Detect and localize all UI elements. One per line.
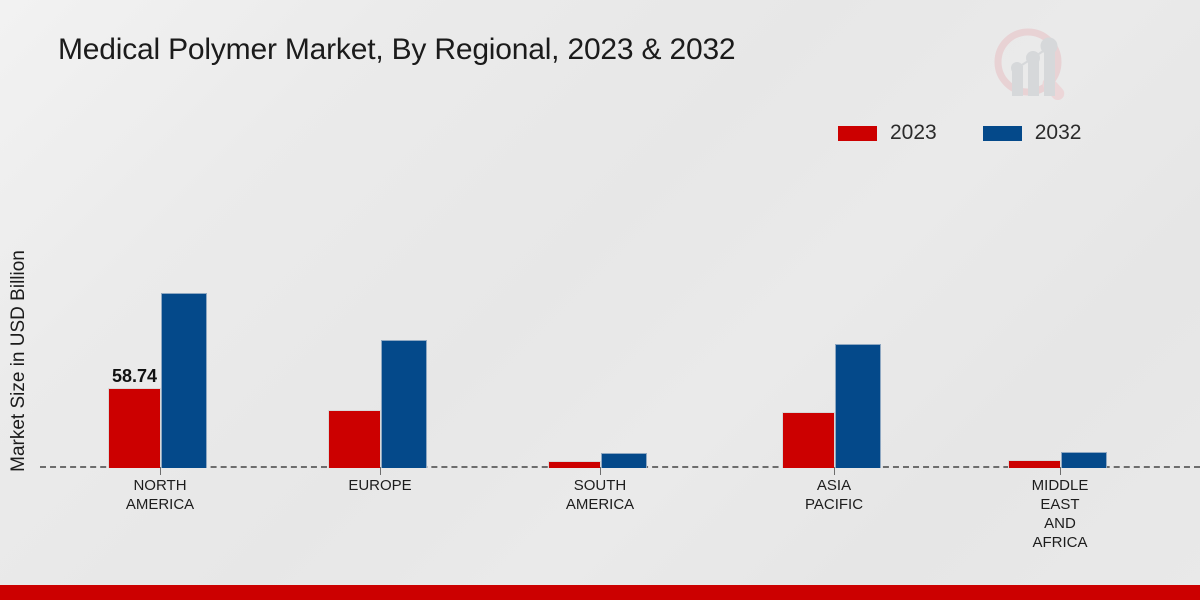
y-axis-title-text: Market Size in USD Billion xyxy=(8,250,30,472)
legend-swatch-2023 xyxy=(838,126,877,141)
bar-group-south-america: SOUTH AMERICA xyxy=(548,150,648,468)
category-label-europe: EUROPE xyxy=(348,476,411,495)
category-label-south-america: SOUTH AMERICA xyxy=(566,476,634,514)
axis-tick xyxy=(600,467,601,475)
chart-title: Medical Polymer Market, By Regional, 202… xyxy=(58,33,735,67)
plot-area: 58.74 NORTH AMERICA EUROPE SOUTH AMERICA xyxy=(40,150,1200,468)
bar-2023-north-america[interactable]: 58.74 xyxy=(108,388,161,468)
chart-legend: 2023 2032 xyxy=(838,121,1081,145)
axis-tick xyxy=(1060,467,1061,475)
bar-group-europe: EUROPE xyxy=(328,150,428,468)
bar-2032-europe[interactable] xyxy=(381,340,427,468)
chart-container: Medical Polymer Market, By Regional, 202… xyxy=(0,0,1200,600)
axis-tick xyxy=(160,467,161,475)
legend-item-2023[interactable]: 2023 xyxy=(838,121,937,145)
bar-2032-middle-east-africa[interactable] xyxy=(1061,452,1107,468)
bar-2023-south-america[interactable] xyxy=(548,461,601,468)
axis-tick xyxy=(380,467,381,475)
legend-item-2032[interactable]: 2032 xyxy=(983,121,1082,145)
bar-2032-asia-pacific[interactable] xyxy=(835,344,881,468)
legend-swatch-2032 xyxy=(983,126,1022,141)
legend-label-2032: 2032 xyxy=(1035,121,1082,145)
y-axis-title: Market Size in USD Billion xyxy=(4,196,34,526)
bar-group-middle-east-africa: MIDDLE EAST AND AFRICA xyxy=(1008,150,1108,468)
bar-2023-asia-pacific[interactable] xyxy=(782,412,835,468)
bar-group-asia-pacific: ASIA PACIFIC xyxy=(782,150,882,468)
bar-2023-europe[interactable] xyxy=(328,410,381,468)
bar-2032-south-america[interactable] xyxy=(601,453,647,468)
market-research-logo-watermark xyxy=(985,18,1085,118)
bar-2023-middle-east-africa[interactable] xyxy=(1008,460,1061,468)
category-label-asia-pacific: ASIA PACIFIC xyxy=(805,476,863,514)
bottom-accent-stripe xyxy=(0,585,1200,600)
bar-group-north-america: 58.74 NORTH AMERICA xyxy=(108,150,208,468)
category-label-middle-east-africa: MIDDLE EAST AND AFRICA xyxy=(1032,476,1089,552)
bar-2032-north-america[interactable] xyxy=(161,293,207,468)
category-label-north-america: NORTH AMERICA xyxy=(126,476,194,514)
bar-value-label: 58.74 xyxy=(112,366,157,387)
legend-label-2023: 2023 xyxy=(890,121,937,145)
axis-tick xyxy=(834,467,835,475)
